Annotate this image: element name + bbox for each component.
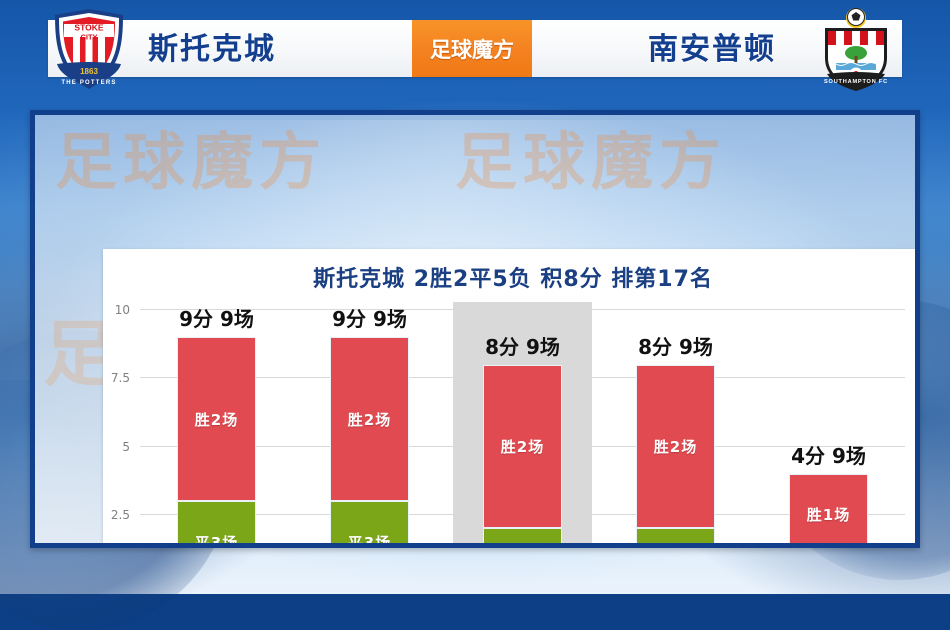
bar-total-label: 8分 9场	[485, 331, 560, 360]
watermark-text: 足球魔方	[455, 111, 727, 201]
bar-total-label: 9分 9场	[179, 303, 254, 332]
bar-segment-draw[interactable]: 平3场	[177, 501, 257, 548]
chart-card-frame: 足球魔方 足球魔方 足球魔方 足球魔方 足球魔方 斯托克城 2胜2平5负 积8分…	[30, 110, 920, 548]
chart-plot-area: 02.557.510平3场胜2场9分 9场西汉姆(第15名)平3场胜2场9分 9…	[140, 310, 905, 548]
southampton-crest: SOUTHAMPTON FC	[815, 6, 897, 92]
bar-segment-win[interactable]: 胜2场	[483, 365, 563, 529]
crest-line2-text: CITY	[80, 33, 97, 42]
crest-line1-text: STOKE	[74, 23, 103, 33]
chart-column[interactable]: 平2场胜2场8分 9场诺维奇(第18名)	[599, 310, 752, 548]
stacked-bar[interactable]: 平2场胜2场	[636, 365, 716, 548]
bar-segment-win[interactable]: 胜2场	[636, 365, 716, 529]
stacked-bar[interactable]: 平3场胜2场	[177, 337, 257, 548]
bar-segment-draw[interactable]: 平3场	[330, 501, 410, 548]
match-header: STOKE CITY 1863 THE POTTERS 斯托克城 足球魔方 南安…	[0, 0, 950, 96]
chart-column[interactable]: 平2场胜2场8分 9场斯托克城(第17名)	[446, 310, 599, 548]
bar-segment-label: 平2场	[654, 545, 697, 548]
y-axis-tick-label: 10	[115, 303, 130, 317]
bar-segment-draw[interactable]: 平2场	[483, 528, 563, 548]
y-axis-tick-label: 5	[122, 440, 130, 454]
bar-segment-label: 平2场	[501, 545, 544, 548]
y-axis-tick-label: 7.5	[111, 371, 130, 385]
bar-total-label: 4分 9场	[791, 440, 866, 469]
bar-segment-draw[interactable]: 平2场	[636, 528, 716, 548]
bar-segment-label: 平3场	[348, 532, 391, 548]
home-team-name: 斯托克城	[148, 24, 276, 68]
bar-segment-label: 胜2场	[348, 409, 391, 430]
bar-segment-win[interactable]: 胜2场	[330, 337, 410, 501]
chart-column[interactable]: 平3场胜2场9分 9场卡迪夫城(第16名)	[293, 310, 446, 548]
stacked-bar[interactable]: 平1场胜1场	[789, 474, 869, 548]
y-axis-tick-label: 2.5	[111, 508, 130, 522]
bar-total-label: 9分 9场	[332, 303, 407, 332]
bar-segment-win[interactable]: 胜1场	[789, 474, 869, 548]
watermark-text: 足球魔方	[55, 111, 327, 201]
bar-total-label: 8分 9场	[638, 331, 713, 360]
bar-segment-label: 胜2场	[654, 436, 697, 457]
stacked-bar[interactable]: 平2场胜2场	[483, 365, 563, 548]
chart-column[interactable]: 平3场胜2场9分 9场西汉姆(第15名)	[140, 310, 293, 548]
bar-segment-label: 胜1场	[807, 504, 850, 525]
stoke-city-crest: STOKE CITY 1863 THE POTTERS	[48, 6, 130, 92]
brand-logo-text: 足球魔方	[430, 34, 514, 64]
bar-segment-win[interactable]: 胜2场	[177, 337, 257, 501]
bar-segment-label: 胜2场	[195, 409, 238, 430]
bar-segment-label: 平3场	[195, 532, 238, 548]
away-team-name: 南安普顿	[648, 24, 776, 68]
crest-year-text: 1863	[80, 67, 98, 76]
crest-motto-text: SOUTHAMPTON FC	[824, 79, 888, 85]
chart-title: 斯托克城 2胜2平5负 积8分 排第17名	[103, 261, 920, 293]
crest-motto-text: THE POTTERS	[61, 80, 116, 86]
stacked-bar[interactable]: 平3场胜2场	[330, 337, 410, 548]
brand-logo[interactable]: 足球魔方	[412, 20, 532, 77]
chart-column[interactable]: 平1场胜1场4分 9场桑德兰(第19名)	[752, 310, 905, 548]
bar-segment-label: 胜2场	[501, 436, 544, 457]
